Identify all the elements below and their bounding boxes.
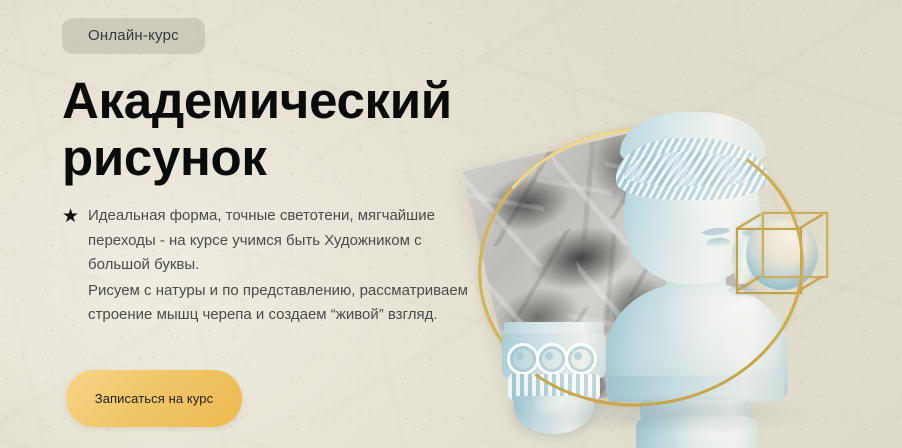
volute-spiral-icon	[507, 343, 539, 375]
hero-paragraph-2: Рисуем с натуры и по представлению, расс…	[88, 279, 482, 328]
hero-illustration	[460, 0, 902, 448]
enroll-button[interactable]: Записаться на курс	[66, 370, 242, 427]
star-icon: ★	[62, 204, 88, 328]
page-title: Академический рисунок	[62, 72, 482, 186]
course-type-badge: Онлайн-курс	[62, 18, 205, 54]
cube-face-back	[762, 212, 828, 278]
hero-paragraph-1: Идеальная форма, точные светотени, мягча…	[88, 204, 482, 278]
volute-spiral-icon	[565, 343, 597, 375]
bust-brow-left	[702, 227, 731, 237]
hero-bullet: ★ Идеальная форма, точные светотени, мяг…	[62, 204, 482, 328]
gold-cube-with-sphere	[732, 206, 830, 302]
illustration-shadow	[520, 392, 820, 436]
volute-spiral-icon	[536, 343, 568, 375]
wireframe-cube-icon	[732, 206, 830, 302]
hero-page: Онлайн-курс Академический рисунок ★ Идеа…	[0, 0, 902, 448]
hero-copy: Онлайн-курс Академический рисунок ★ Идеа…	[62, 18, 482, 328]
hero-description: Идеальная форма, точные светотени, мягча…	[88, 204, 482, 328]
capital-volutes	[502, 334, 606, 378]
bust-eye-left	[706, 237, 731, 248]
